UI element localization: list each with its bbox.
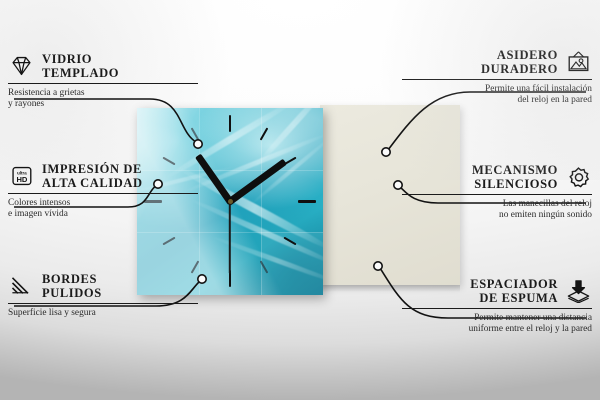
feature-title: BORDES PULIDOS (42, 272, 102, 300)
polished-edges-icon (8, 274, 35, 298)
feature-impresion-alta-calidad: ultra HD IMPRESIÓN DE ALTA CALIDAD Color… (8, 162, 198, 220)
diamond-icon (8, 54, 35, 78)
clock-hands-hub (228, 199, 233, 204)
feature-header: BORDES PULIDOS (8, 272, 198, 300)
feature-header: ultra HD IMPRESIÓN DE ALTA CALIDAD (8, 162, 198, 190)
infographic-canvas: VIDRIO TEMPLADO Resistencia a grietas y … (0, 0, 600, 400)
feature-description: Las manecillas del reloj no emiten ningú… (402, 199, 592, 221)
feature-description: Permite una fácil instalación del reloj … (402, 84, 592, 106)
feature-title: IMPRESIÓN DE ALTA CALIDAD (42, 162, 143, 190)
hour-marker-12 (229, 115, 231, 132)
second-hand (229, 200, 231, 274)
hour-marker-3 (298, 200, 316, 203)
feature-divider (8, 193, 198, 194)
feature-header: ESPACIADOR DE ESPUMA (402, 277, 592, 305)
feature-header: VIDRIO TEMPLADO (8, 52, 198, 80)
feature-divider (8, 83, 198, 84)
feature-mecanismo-silencioso: MECANISMO SILENCIOSO Las manecillas del … (402, 163, 592, 221)
hanging-frame-icon (565, 50, 592, 74)
ultra-hd-badge-icon: ultra HD (8, 164, 35, 188)
gear-icon (565, 165, 592, 189)
feature-title: VIDRIO TEMPLADO (42, 52, 119, 80)
feature-asidero-duradero: ASIDERO DURADERO Permite una fácil insta… (402, 48, 592, 106)
feature-header: MECANISMO SILENCIOSO (402, 163, 592, 191)
feature-description: Superficie lisa y segura (8, 308, 198, 319)
feature-description: Permite mantener una distancia uniforme … (402, 313, 592, 335)
arrow-down-layers-icon (565, 279, 592, 303)
feature-title: MECANISMO SILENCIOSO (472, 163, 558, 191)
feature-espaciador-de-espuma: ESPACIADOR DE ESPUMA Permite mantener un… (402, 277, 592, 335)
feature-divider (402, 308, 592, 309)
feature-divider (8, 303, 198, 304)
feature-divider (402, 194, 592, 195)
feature-header: ASIDERO DURADERO (402, 48, 592, 76)
feature-divider (402, 79, 592, 80)
feature-description: Colores intensos e imagen vívida (8, 198, 198, 220)
feature-bordes-pulidos: BORDES PULIDOS Superficie lisa y segura (8, 272, 198, 319)
feature-title: ASIDERO DURADERO (481, 48, 558, 76)
hour-marker-8 (162, 237, 175, 246)
feature-vidrio-templado: VIDRIO TEMPLADO Resistencia a grietas y … (8, 52, 198, 110)
feature-title: ESPACIADOR DE ESPUMA (470, 277, 558, 305)
svg-text:HD: HD (16, 175, 27, 184)
feature-description: Resistencia a grietas y rayones (8, 88, 198, 110)
